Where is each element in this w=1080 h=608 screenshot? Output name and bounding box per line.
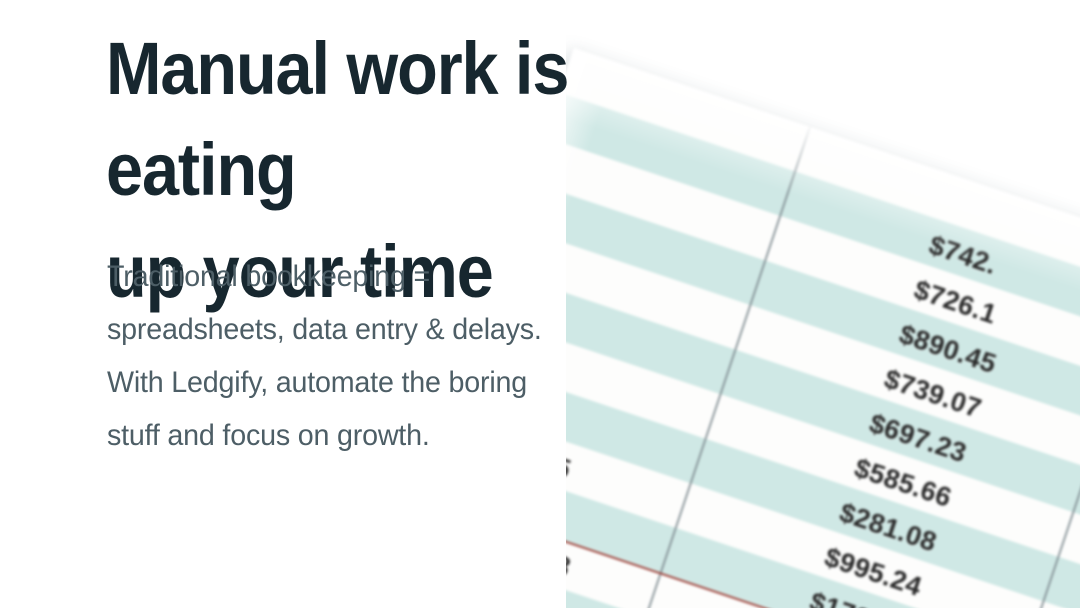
slide-canvas: $742. $726.1 $890.45 $739.07 $697.23 $58… <box>0 0 1080 608</box>
hero-body-text: Traditional bookkeeping = spreadsheets, … <box>107 250 680 462</box>
hero-copy: Manual work is eating up your time Tradi… <box>106 18 836 322</box>
